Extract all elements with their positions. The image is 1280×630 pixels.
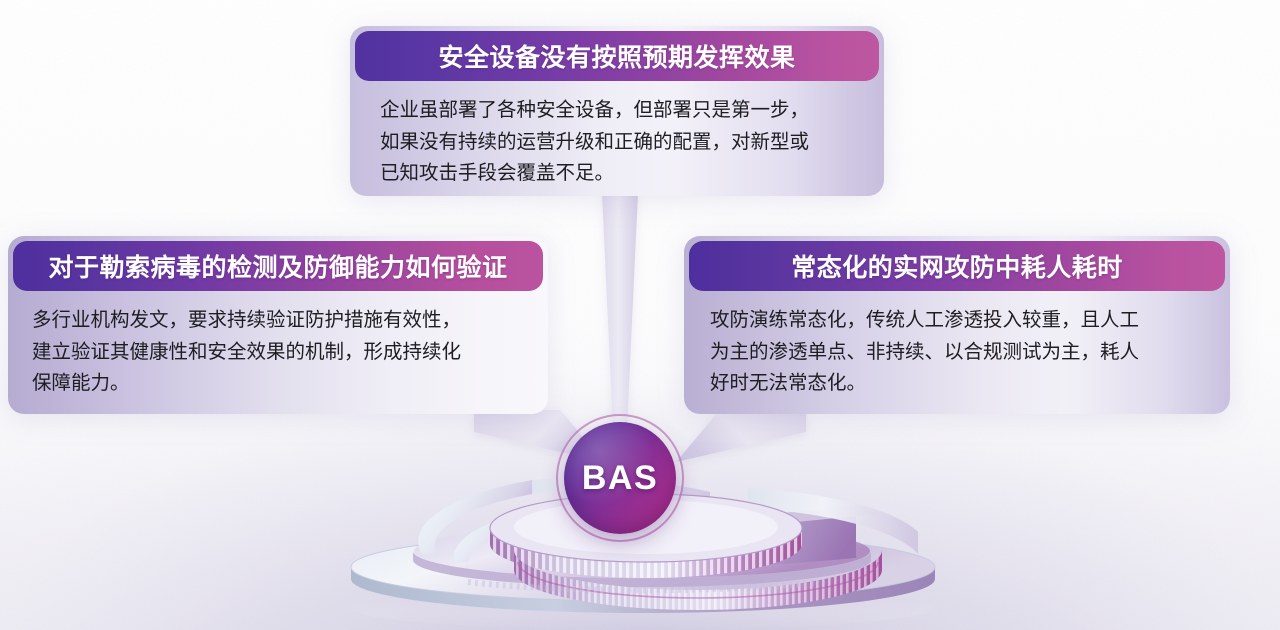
card-top[interactable]: 安全设备没有按照预期发挥效果 企业虽部署了各种安全设备，但部署只是第一步， 如果… xyxy=(350,26,884,196)
card-left-body: 多行业机构发文，要求持续验证防护措施有效性， 建立验证其健康性和安全效果的机制，… xyxy=(8,291,548,400)
bas-hub-node[interactable]: BAS xyxy=(556,414,684,542)
card-right-title: 常态化的实网攻防中耗人耗时 xyxy=(689,241,1225,291)
tail-top-card xyxy=(596,193,644,429)
card-top-inner: 安全设备没有按照预期发挥效果 企业虽部署了各种安全设备，但部署只是第一步， 如果… xyxy=(350,26,884,196)
card-left-inner: 对于勒索病毒的检测及防御能力如何验证 多行业机构发文，要求持续验证防护措施有效性… xyxy=(8,236,548,414)
infographic-stage: 安全设备没有按照预期发挥效果 企业虽部署了各种安全设备，但部署只是第一步， 如果… xyxy=(0,0,1280,630)
card-top-title: 安全设备没有按照预期发挥效果 xyxy=(355,31,879,81)
card-right-inner: 常态化的实网攻防中耗人耗时 攻防演练常态化，传统人工渗透投入较重，且人工 为主的… xyxy=(684,236,1230,414)
bas-label: BAS xyxy=(582,459,658,498)
card-right-body: 攻防演练常态化，传统人工渗透投入较重，且人工 为主的渗透单点、非持续、以合规测试… xyxy=(684,291,1230,400)
bas-core-circle: BAS xyxy=(564,422,676,534)
card-left[interactable]: 对于勒索病毒的检测及防御能力如何验证 多行业机构发文，要求持续验证防护措施有效性… xyxy=(8,236,548,414)
card-top-body: 企业虽部署了各种安全设备，但部署只是第一步， 如果没有持续的运营升级和正确的配置… xyxy=(350,81,884,190)
card-left-title: 对于勒索病毒的检测及防御能力如何验证 xyxy=(13,241,543,291)
card-right[interactable]: 常态化的实网攻防中耗人耗时 攻防演练常态化，传统人工渗透投入较重，且人工 为主的… xyxy=(684,236,1230,414)
